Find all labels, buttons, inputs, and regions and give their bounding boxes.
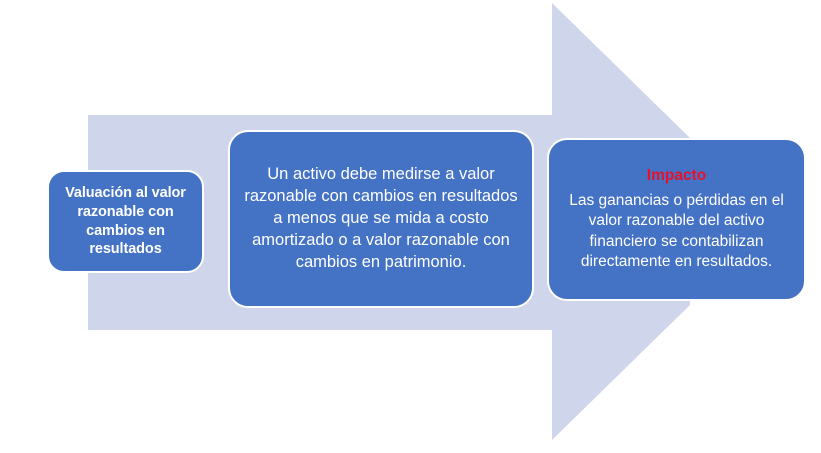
concept-box-text: Valuación al valor razonable con cambios… <box>59 184 192 259</box>
impact-box[interactable]: Impacto Las ganancias o pérdidas en el v… <box>547 138 806 301</box>
impact-box-text: Las ganancias o pérdidas en el valor raz… <box>557 191 796 273</box>
rule-box-text: Un activo debe medirse a valor razonable… <box>244 164 518 274</box>
process-diagram: Valuación al valor razonable con cambios… <box>0 0 821 453</box>
concept-box[interactable]: Valuación al valor razonable con cambios… <box>47 170 204 273</box>
impact-box-heading: Impacto <box>647 166 706 187</box>
rule-box[interactable]: Un activo debe medirse a valor razonable… <box>228 130 534 308</box>
